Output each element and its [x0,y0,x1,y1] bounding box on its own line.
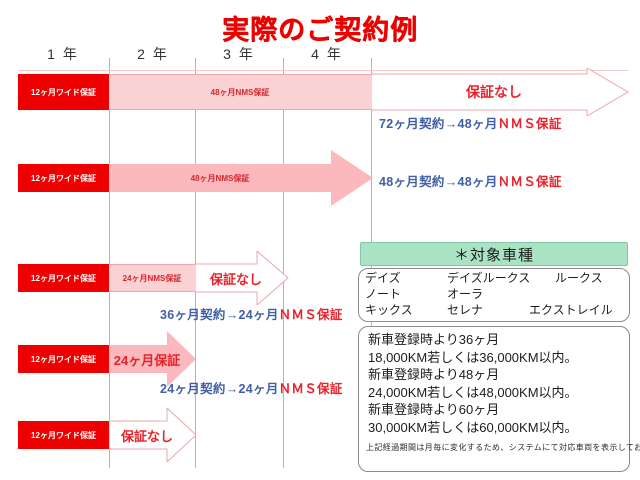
row1-tail-label: 保証なし [371,68,617,116]
vehicle-cell: セレナ [447,302,529,318]
footnote: 上記経過期間は月毎に変化するため、システムにて対応車両を表示しております [366,442,640,453]
vehicle-row-3: キックスセレナエクストレイル [365,302,623,318]
row3-nms-block: 24ヶ月NMS保証 [109,264,195,292]
vehicle-cell: デイズ [365,270,447,286]
row2-nms-label: 48ヶ月NMS保証 [109,164,331,192]
vehicle-cell: ルークス [555,270,623,286]
target-vehicles-list: デイズデイズルークスルークス ノートオーラ キックスセレナエクストレイル [365,270,623,318]
row1-caption-highlight: ＮＭＳ保証 [498,117,562,131]
row3-caption: 36ヶ月契約→24ヶ月ＮＭＳ保証 [160,304,343,323]
axis-year-2: 2 年 [111,44,195,64]
vehicle-row-1: デイズデイズルークスルークス [365,270,623,286]
row3-wide-block: 12ヶ月ワイド保証 [18,264,109,292]
row2-caption-months: 48ヶ月 [458,175,498,189]
row1-wide-block: 12ヶ月ワイド保証 [18,74,109,110]
page-title: 実際のご契約例 [0,8,640,47]
gridline-year1 [109,58,110,468]
row3-caption-prefix: 36ヶ月契約→ [160,308,239,322]
row4-caption-prefix: 24ヶ月契約→ [160,382,239,396]
row4-caption-highlight: ＮＭＳ保証 [279,382,343,396]
row4-caption: 24ヶ月契約→24ヶ月ＮＭＳ保証 [160,378,343,397]
row1-caption-months: 48ヶ月 [458,117,498,131]
vehicle-cell: キックス [365,302,447,318]
row4-nms-label: 24ヶ月保証 [109,345,185,373]
row5-tail-label: 保証なし [109,421,185,449]
row2-caption-prefix: 48ヶ月契約→ [379,175,458,189]
row4-wide-block: 12ヶ月ワイド保証 [18,345,109,373]
condition-line: 新車登録時より48ヶ月 [368,366,578,384]
condition-line: 24,000KM若しくは48,000KM以内。 [368,384,578,402]
row1-nms-block: 48ヶ月NMS保証 [109,74,371,110]
vehicle-cell: ノート [365,286,447,302]
vehicle-cell: エクストレイル [529,302,623,318]
row2-caption: 48ヶ月契約→48ヶ月ＮＭＳ保証 [379,171,562,190]
axis-year-4: 4 年 [283,44,371,64]
row3-caption-highlight: ＮＭＳ保証 [279,308,343,322]
row1-caption-prefix: 72ヶ月契約→ [379,117,458,131]
vehicle-cell: デイズルークス [447,270,555,286]
row2-wide-block: 12ヶ月ワイド保証 [18,164,109,192]
condition-line: 30,000KM若しくは60,000KM以内。 [368,419,578,437]
axis-year-1: 1 年 [18,44,108,64]
row4-caption-months: 24ヶ月 [239,382,279,396]
vehicle-cell: オーラ [447,286,555,302]
condition-line: 新車登録時より60ヶ月 [368,401,578,419]
slide-canvas: 実際のご契約例 1 年 2 年 3 年 4 年 保証なし 48ヶ月NMS保証 1… [0,0,640,480]
target-vehicles-header: ＊対象車種 [360,242,628,266]
row3-caption-months: 24ヶ月 [239,308,279,322]
row1-caption: 72ヶ月契約→48ヶ月ＮＭＳ保証 [379,113,562,132]
axis-year-3: 3 年 [196,44,282,64]
condition-line: 新車登録時より36ヶ月 [368,331,578,349]
row2-caption-highlight: ＮＭＳ保証 [498,175,562,189]
condition-line: 18,000KM若しくは36,000KM以内。 [368,349,578,367]
conditions-text: 新車登録時より36ヶ月 18,000KM若しくは36,000KM以内。 新車登録… [368,331,578,436]
vehicle-row-2: ノートオーラ [365,286,623,302]
row3-tail-label: 保証なし [195,264,277,292]
row5-wide-block: 12ヶ月ワイド保証 [18,421,109,449]
